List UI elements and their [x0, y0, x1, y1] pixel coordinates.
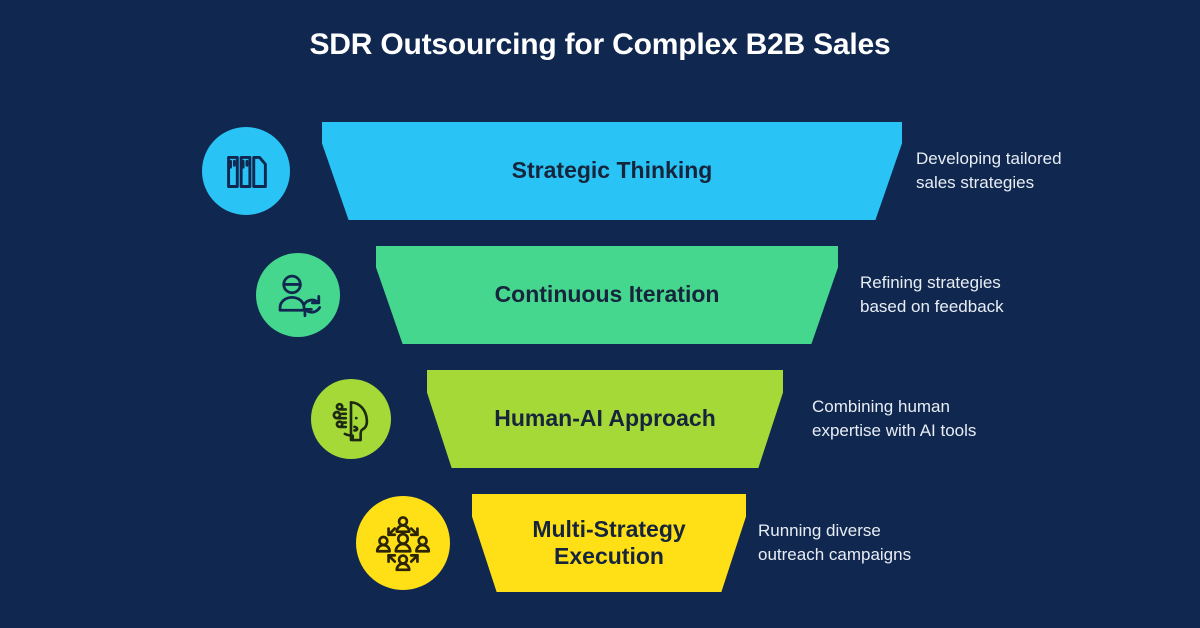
ai-head-circuit-icon	[323, 391, 379, 447]
funnel-row: Continuous Iteration Refining strategies…	[0, 244, 1200, 346]
bar-chart-building-icon	[215, 140, 277, 202]
funnel-stage-label: Multi-Strategy Execution	[498, 516, 719, 570]
page-title: SDR Outsourcing for Complex B2B Sales	[0, 28, 1200, 62]
funnel-stage-label: Strategic Thinking	[478, 157, 747, 184]
person-refresh-icon	[269, 266, 328, 325]
funnel-row: Multi-Strategy Execution Running diverse…	[0, 492, 1200, 594]
funnel-stage[interactable]: Human-AI Approach	[427, 370, 783, 468]
stage-description: Developing tailored sales strategies	[916, 147, 1062, 195]
stage-icon-badge	[356, 496, 450, 590]
stage-icon-badge	[311, 379, 391, 459]
stage-description: Refining strategies based on feedback	[860, 271, 1004, 319]
stage-icon-badge	[256, 253, 340, 337]
stage-description: Combining human expertise with AI tools	[812, 395, 976, 443]
infographic-canvas: SDR Outsourcing for Complex B2B Sales	[0, 0, 1200, 628]
funnel-diagram: Strategic Thinking Developing tailored s…	[0, 108, 1200, 618]
funnel-row: Human-AI Approach Combining human expert…	[0, 368, 1200, 470]
stage-description: Running diverse outreach campaigns	[758, 519, 911, 567]
funnel-stage-label: Human-AI Approach	[460, 405, 750, 432]
stage-icon-badge	[202, 127, 290, 215]
funnel-stage[interactable]: Continuous Iteration	[376, 246, 838, 344]
funnel-row: Strategic Thinking Developing tailored s…	[0, 120, 1200, 222]
funnel-stage-label: Continuous Iteration	[461, 281, 754, 308]
funnel-stage[interactable]: Strategic Thinking	[322, 122, 902, 220]
team-network-icon	[370, 510, 436, 576]
funnel-stage[interactable]: Multi-Strategy Execution	[472, 494, 746, 592]
